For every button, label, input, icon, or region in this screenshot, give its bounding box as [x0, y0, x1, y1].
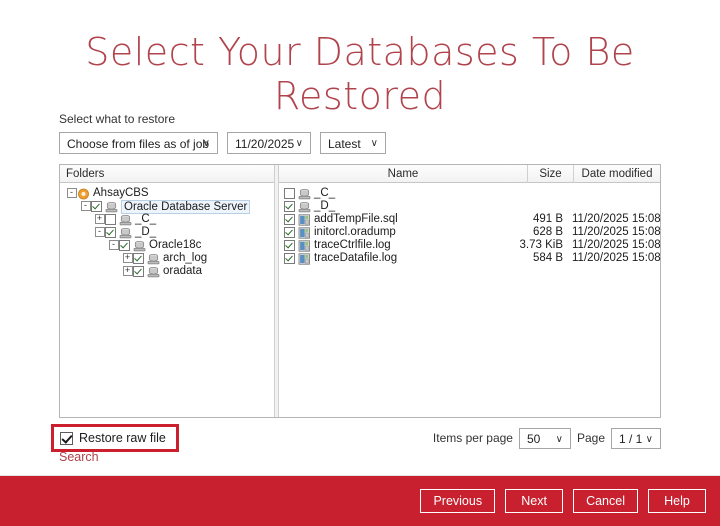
ahsay-logo-icon: [77, 188, 90, 200]
file-size-cell: 3.73 KiB: [516, 239, 568, 252]
database-icon: [147, 253, 160, 265]
explorer-footer-row: Restore raw file Items per page 50 ∨ Pag…: [59, 426, 661, 450]
folder-tree-pane: Folders -AhsayCBS-Oracle Database Server…: [60, 165, 274, 417]
file-size-cell: 491 B: [516, 213, 568, 226]
selector-row: Choose from files as of job ∨ 11/20/2025…: [59, 132, 661, 154]
tree-node-checkbox[interactable]: [119, 240, 130, 251]
file-name-cell: initorcl.oradump: [284, 226, 516, 239]
database-icon: [105, 201, 118, 213]
file-name-cell: traceCtrlfile.log: [284, 239, 516, 252]
file-list-header: Name Size Date modified: [279, 165, 660, 183]
chevron-down-icon: ∨: [203, 133, 210, 155]
chevron-down-icon: ∨: [371, 133, 378, 155]
tree-node-checkbox[interactable]: [133, 253, 144, 264]
file-list-pane: Name Size Date modified _C__D_addTempFil…: [279, 165, 660, 417]
tree-node-label: arch_log: [163, 252, 209, 265]
collapse-icon[interactable]: -: [66, 188, 77, 199]
items-per-page-label: Items per page: [433, 431, 513, 445]
restore-raw-file-checkbox[interactable]: [60, 432, 73, 445]
chevron-down-icon: ∨: [646, 429, 653, 451]
chevron-down-icon: ∨: [556, 429, 563, 451]
tree-node-label: Oracle Database Server: [121, 200, 250, 214]
file-icon: [298, 240, 311, 252]
file-name-label: traceDatafile.log: [314, 252, 397, 265]
column-header-date-modified[interactable]: Date modified: [574, 165, 660, 183]
tree-node-label: oradata: [163, 265, 204, 278]
tree-node[interactable]: -AhsayCBS: [60, 187, 274, 200]
file-name-label: initorcl.oradump: [314, 226, 396, 239]
file-row-checkbox[interactable]: [284, 201, 295, 212]
restore-content: Select what to restore Choose from files…: [59, 112, 661, 450]
page-label: Page: [577, 431, 605, 445]
tree-node-label: Oracle18c: [149, 239, 203, 252]
file-row[interactable]: traceDatafile.log584 B11/20/2025 15:08: [279, 252, 660, 265]
footer-action-bar: PreviousNextCancelHelp: [0, 476, 720, 526]
file-date-cell: 11/20/2025 15:08: [568, 226, 660, 239]
folder-tree[interactable]: -AhsayCBS-Oracle Database Server+_C_-_D_…: [60, 183, 274, 278]
page-value: 1 / 1: [619, 432, 642, 446]
file-name-cell: addTempFile.sql: [284, 213, 516, 226]
tree-node-checkbox[interactable]: [133, 266, 144, 277]
database-icon: [298, 201, 311, 213]
tree-node-label: _C_: [135, 213, 158, 226]
page-select[interactable]: 1 / 1 ∨: [611, 428, 661, 449]
file-date-cell: 11/20/2025 15:08: [568, 252, 660, 265]
column-header-name[interactable]: Name: [279, 165, 528, 183]
file-row[interactable]: _C_: [279, 187, 660, 200]
file-icon: [298, 253, 311, 265]
file-name-label: traceCtrlfile.log: [314, 239, 391, 252]
previous-button[interactable]: Previous: [420, 489, 495, 513]
next-button[interactable]: Next: [505, 489, 563, 513]
file-row-checkbox[interactable]: [284, 188, 295, 199]
file-row[interactable]: traceCtrlfile.log3.73 KiB11/20/2025 15:0…: [279, 239, 660, 252]
expand-icon[interactable]: +: [94, 214, 105, 225]
database-icon: [119, 214, 132, 226]
page-title: Select Your Databases To Be Restored: [0, 0, 720, 118]
chevron-down-icon: ∨: [296, 133, 303, 155]
folder-tree-header: Folders: [60, 165, 274, 183]
pagination-controls: Items per page 50 ∨ Page 1 / 1 ∨: [433, 428, 661, 449]
file-icon: [298, 214, 311, 226]
file-row-checkbox[interactable]: [284, 240, 295, 251]
collapse-icon[interactable]: -: [94, 227, 105, 238]
tree-node-label: AhsayCBS: [93, 187, 151, 200]
file-size-cell: 628 B: [516, 226, 568, 239]
column-header-size[interactable]: Size: [528, 165, 574, 183]
file-explorer: Folders -AhsayCBS-Oracle Database Server…: [59, 164, 661, 418]
file-icon: [298, 227, 311, 239]
file-row[interactable]: initorcl.oradump628 B11/20/2025 15:08: [279, 226, 660, 239]
file-row-checkbox[interactable]: [284, 253, 295, 264]
expand-icon[interactable]: +: [122, 266, 133, 277]
file-row-checkbox[interactable]: [284, 227, 295, 238]
cancel-button[interactable]: Cancel: [573, 489, 638, 513]
restore-raw-file-highlight: Restore raw file: [51, 424, 179, 452]
tree-node[interactable]: -Oracle18c: [60, 239, 274, 252]
items-per-page-select[interactable]: 50 ∨: [519, 428, 571, 449]
tree-node[interactable]: +arch_log: [60, 252, 274, 265]
file-date-cell: 11/20/2025 15:08: [568, 239, 660, 252]
database-icon: [133, 240, 146, 252]
tree-node-label: _D_: [135, 226, 158, 239]
tree-node[interactable]: -Oracle Database Server: [60, 200, 274, 213]
version-select[interactable]: Latest ∨: [320, 132, 386, 154]
file-date-cell: 11/20/2025 15:08: [568, 213, 660, 226]
tree-node[interactable]: +_C_: [60, 213, 274, 226]
database-icon: [298, 188, 311, 200]
file-list[interactable]: _C__D_addTempFile.sql491 B11/20/2025 15:…: [279, 183, 660, 265]
database-icon: [147, 266, 160, 278]
file-name-cell: traceDatafile.log: [284, 252, 516, 265]
source-select-value: Choose from files as of job: [67, 137, 209, 151]
column-header-folders: Folders: [60, 168, 104, 180]
file-size-cell: 584 B: [516, 252, 568, 265]
database-icon: [119, 227, 132, 239]
tree-node-checkbox[interactable]: [105, 227, 116, 238]
file-name-label: _C_: [314, 187, 335, 200]
file-name-label: _D_: [314, 200, 335, 213]
backup-date-select-value: 11/20/2025: [235, 137, 294, 151]
items-per-page-value: 50: [527, 432, 540, 446]
tree-node-checkbox[interactable]: [105, 214, 116, 225]
select-what-to-restore-label: Select what to restore: [59, 112, 661, 126]
help-button[interactable]: Help: [648, 489, 706, 513]
backup-date-select[interactable]: 11/20/2025 ∨: [227, 132, 311, 154]
file-name-cell: _C_: [284, 187, 516, 200]
tree-node[interactable]: -_D_: [60, 226, 274, 239]
tree-node-checkbox[interactable]: [91, 201, 102, 212]
search-link[interactable]: Search: [59, 450, 99, 464]
source-select[interactable]: Choose from files as of job ∨: [59, 132, 218, 154]
tree-node[interactable]: +oradata: [60, 265, 274, 278]
version-select-value: Latest: [328, 137, 361, 151]
collapse-icon[interactable]: -: [108, 240, 119, 251]
file-row[interactable]: addTempFile.sql491 B11/20/2025 15:08: [279, 213, 660, 226]
restore-raw-file-label: Restore raw file: [79, 431, 166, 445]
file-row-checkbox[interactable]: [284, 214, 295, 225]
file-name-cell: _D_: [284, 200, 516, 213]
expand-icon[interactable]: +: [122, 253, 133, 264]
file-name-label: addTempFile.sql: [314, 213, 398, 226]
collapse-icon[interactable]: -: [80, 201, 91, 212]
file-row[interactable]: _D_: [279, 200, 660, 213]
